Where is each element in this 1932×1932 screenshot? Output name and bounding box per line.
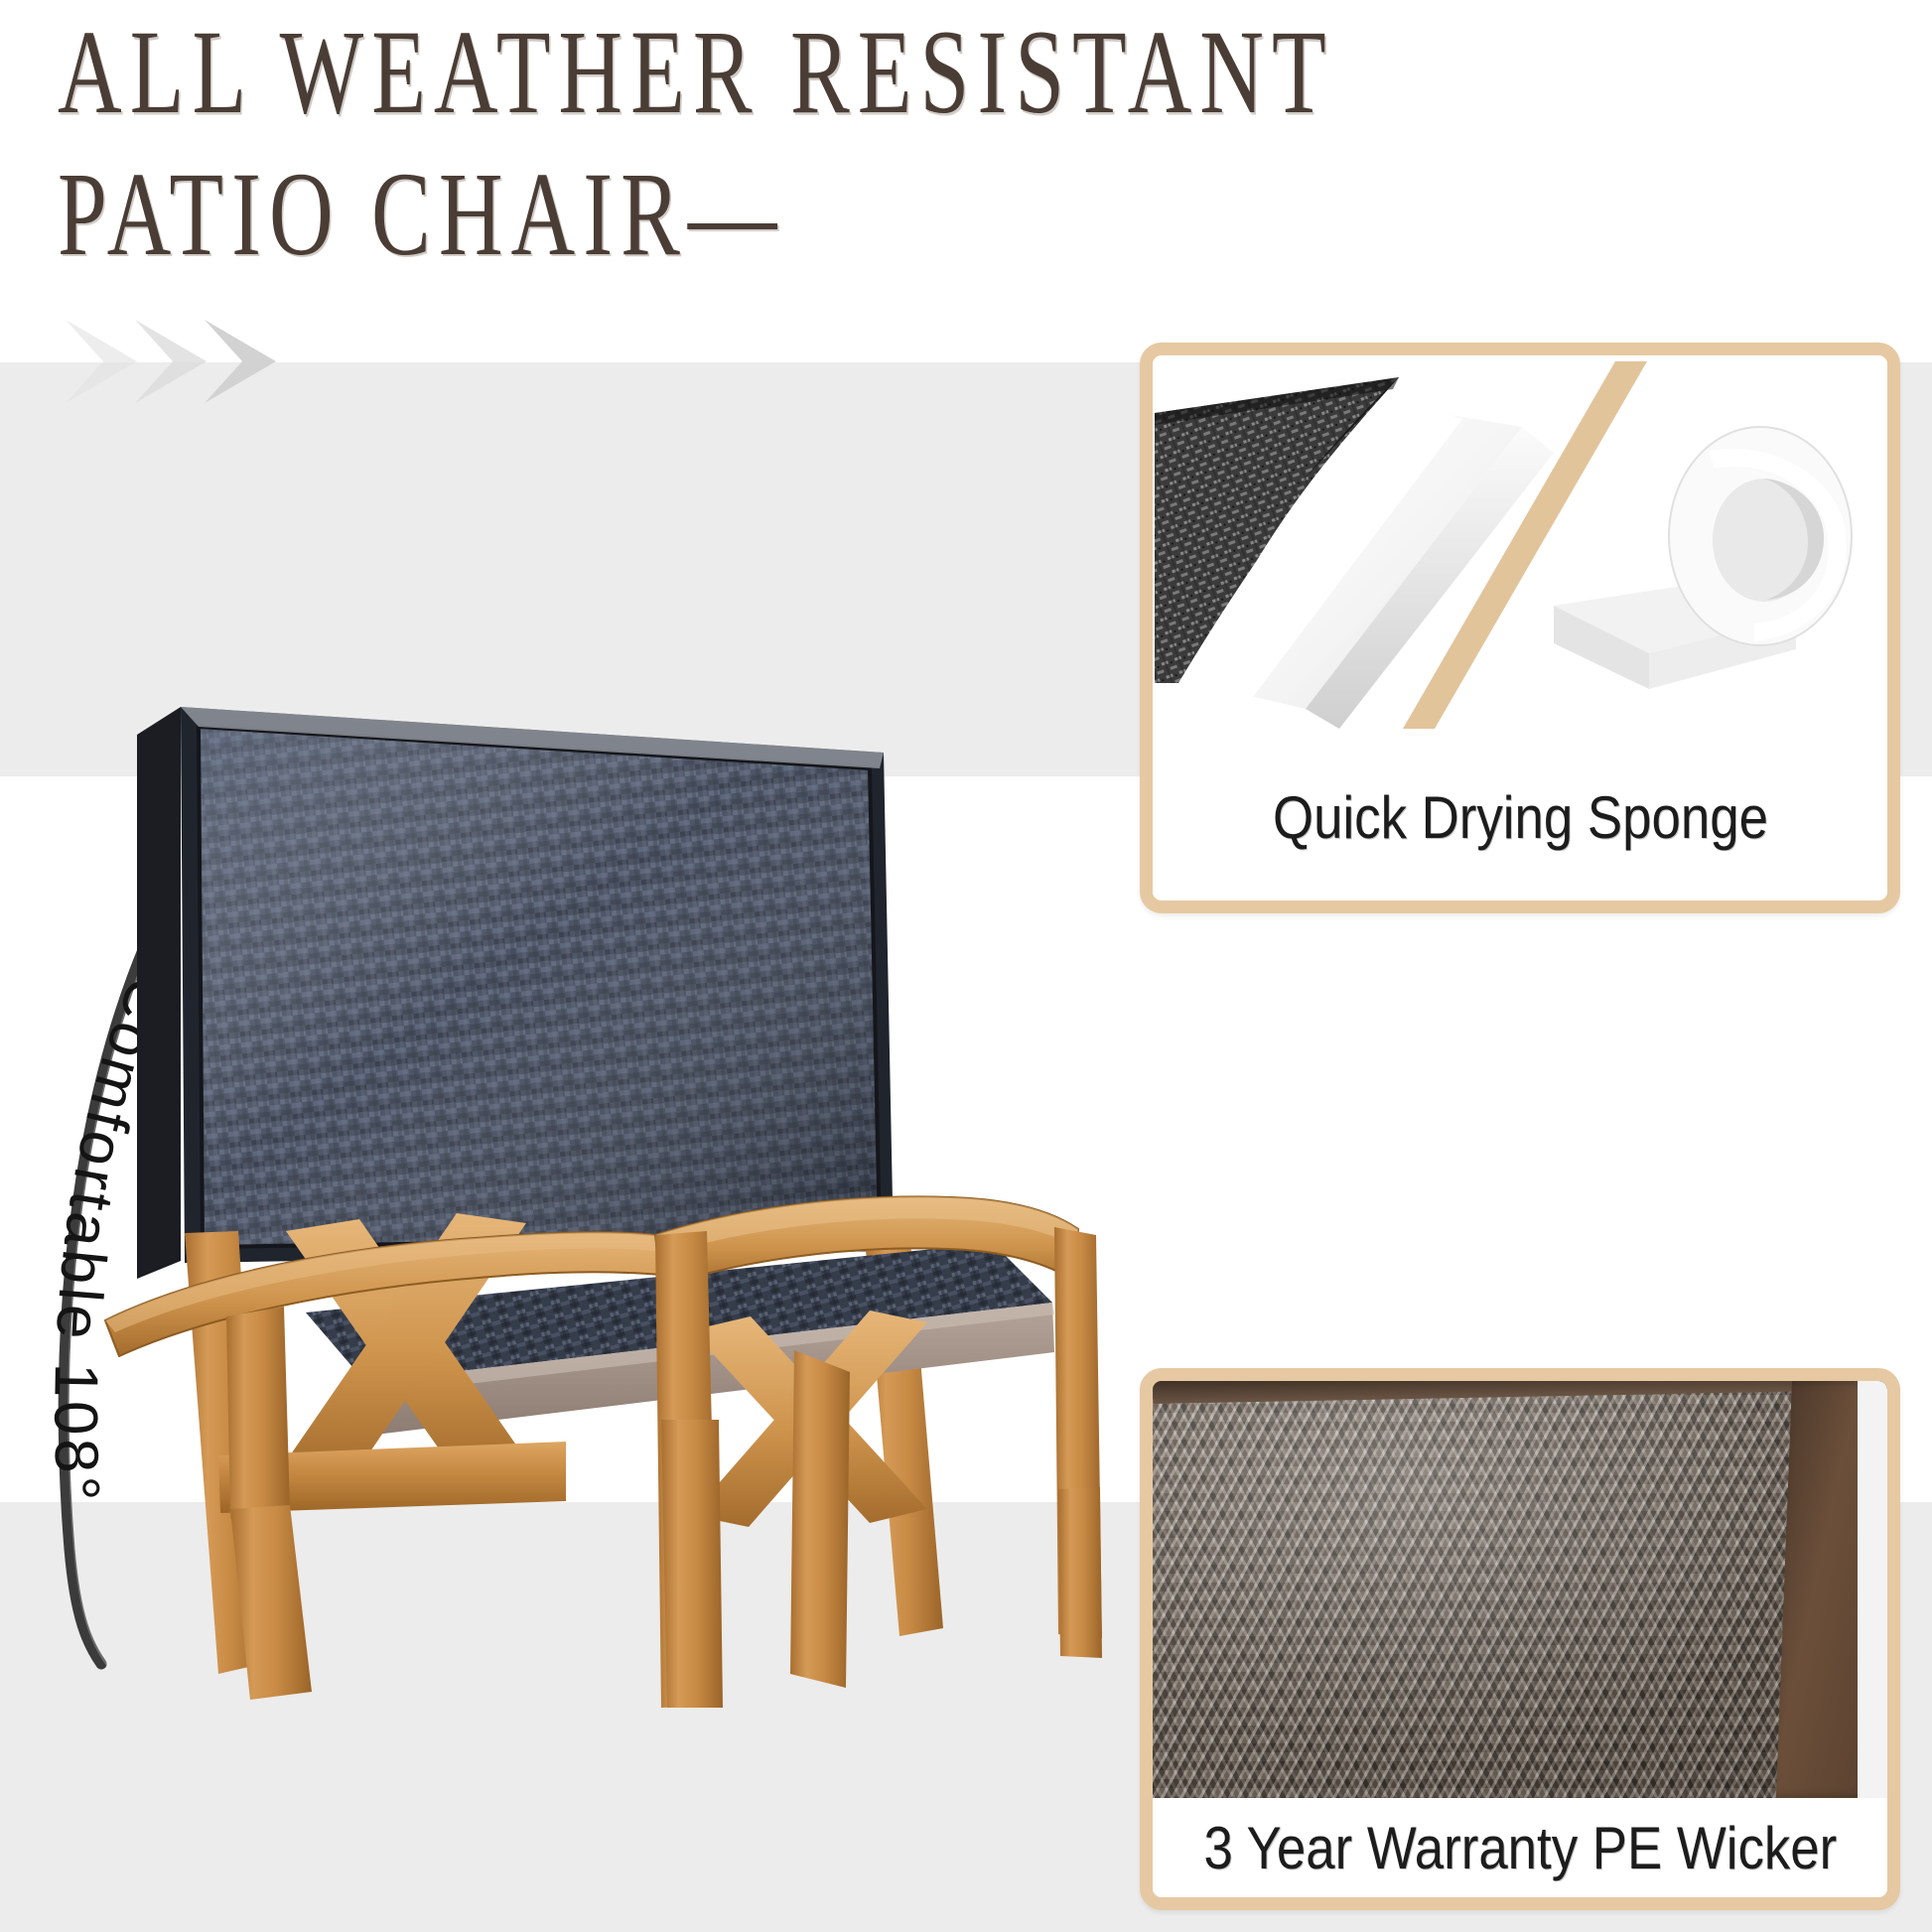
wicker-photo-background (1858, 1381, 1887, 1798)
triple-chevron-right-icon (60, 316, 338, 445)
wicker-weave-illustration-icon (1153, 1381, 1887, 1798)
wicker-caption: 3 Year Warranty PE Wicker (1153, 1798, 1887, 1897)
sponge-caption-text: Quick Drying Sponge (1273, 783, 1768, 852)
sponge-photo (1153, 355, 1887, 735)
page-title-line-1: ALL WEATHER RESISTANT (58, 2, 1249, 144)
page-title-dash: — (688, 148, 777, 281)
patio-chair-illustration (99, 635, 1102, 1708)
wicker-caption-text: 3 Year Warranty PE Wicker (1203, 1814, 1837, 1882)
chair-arm-post-left (226, 1307, 290, 1519)
page-title-line-2-text: PATIO CHAIR (58, 148, 688, 281)
page-title-line-2: PATIO CHAIR— (58, 144, 1249, 286)
product-image-patio-chair (99, 635, 1102, 1708)
feature-panel-sponge: Quick Drying Sponge (1140, 343, 1900, 913)
chair-back-panel (137, 707, 894, 1279)
chair-leg-right-lower (1058, 1487, 1102, 1658)
sponge-illustration-icon (1153, 355, 1887, 735)
chevron-arrows-decor (60, 316, 338, 445)
chair-leg-front-center (661, 1420, 723, 1708)
infographic-canvas: ALL WEATHER RESISTANT PATIO CHAIR— Comfo… (0, 0, 1932, 1932)
sponge-caption: Quick Drying Sponge (1153, 735, 1887, 899)
page-title: ALL WEATHER RESISTANT PATIO CHAIR— (58, 2, 1249, 285)
chair-leg-front-left (230, 1505, 312, 1700)
wicker-photo (1153, 1381, 1887, 1798)
chair-leg-front-right (790, 1350, 850, 1688)
feature-panel-wicker: 3 Year Warranty PE Wicker (1140, 1368, 1900, 1910)
wicker-sheen-overlay (1153, 1381, 1887, 1798)
